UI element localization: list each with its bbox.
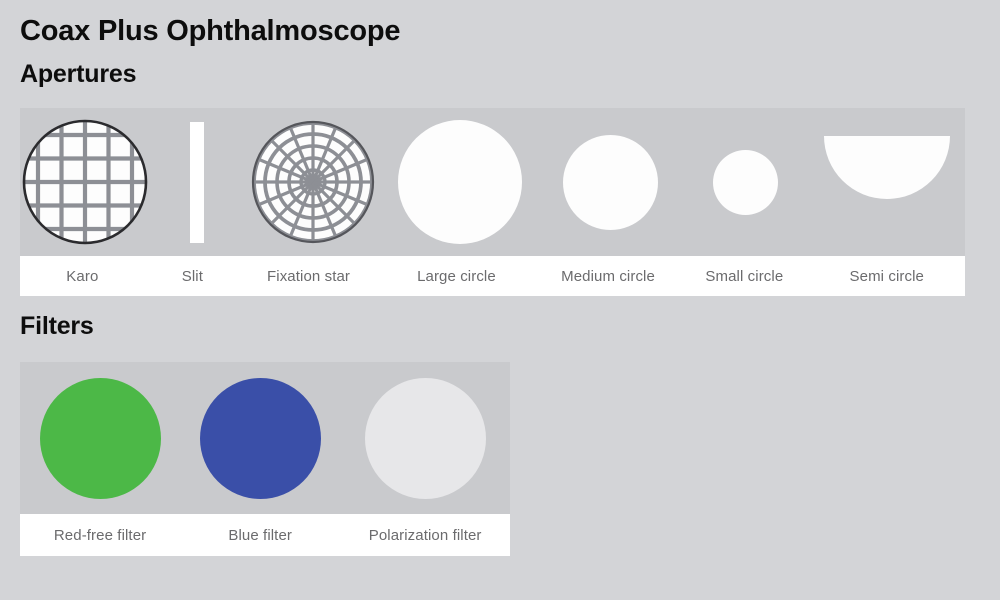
aperture-label-semi-circle: Semi circle xyxy=(809,256,965,296)
filter-polarization[interactable] xyxy=(340,362,510,514)
aperture-semi-circle[interactable] xyxy=(810,108,965,256)
medium-circle-icon xyxy=(563,135,658,230)
aperture-label-fixation-star: Fixation star xyxy=(240,256,377,296)
vertical-slit-icon xyxy=(190,122,204,243)
aperture-label-karo: Karo xyxy=(20,256,145,296)
apertures-shape-row xyxy=(20,108,965,256)
green-disc-icon xyxy=(40,378,161,499)
aperture-small-circle[interactable] xyxy=(682,108,810,256)
large-circle-icon xyxy=(398,120,522,244)
section-heading-filters: Filters xyxy=(20,312,94,341)
filter-blue[interactable] xyxy=(180,362,340,514)
filter-label-polarization: Polarization filter xyxy=(340,514,510,556)
page-title: Coax Plus Ophthalmoscope xyxy=(20,14,720,48)
filters-label-row: Red-free filter Blue filter Polarization… xyxy=(20,514,510,556)
aperture-fixation-star[interactable] xyxy=(245,108,381,256)
aperture-large-circle[interactable] xyxy=(381,108,539,256)
apertures-label-row: Karo Slit Fixation star Large circle Med… xyxy=(20,256,965,296)
semi-circle-icon xyxy=(824,136,950,199)
filters-panel: Red-free filter Blue filter Polarization… xyxy=(20,362,510,556)
section-heading-apertures: Apertures xyxy=(20,60,136,89)
filter-label-blue: Blue filter xyxy=(180,514,340,556)
filters-shape-row xyxy=(20,362,510,514)
fixation-star-icon xyxy=(250,119,376,245)
aperture-label-medium-circle: Medium circle xyxy=(536,256,680,296)
apertures-panel: Karo Slit Fixation star Large circle Med… xyxy=(20,108,965,296)
aperture-label-small-circle: Small circle xyxy=(680,256,808,296)
aperture-karo[interactable] xyxy=(20,108,150,256)
aperture-medium-circle[interactable] xyxy=(539,108,682,256)
filter-red-free[interactable] xyxy=(20,362,180,514)
blue-disc-icon xyxy=(200,378,321,499)
clear-disc-icon xyxy=(365,378,486,499)
aperture-slit[interactable] xyxy=(150,108,245,256)
grid-circle-icon xyxy=(20,117,150,247)
small-circle-icon xyxy=(713,150,778,215)
filter-label-red-free: Red-free filter xyxy=(20,514,180,556)
aperture-label-slit: Slit xyxy=(145,256,240,296)
aperture-label-large-circle: Large circle xyxy=(377,256,536,296)
